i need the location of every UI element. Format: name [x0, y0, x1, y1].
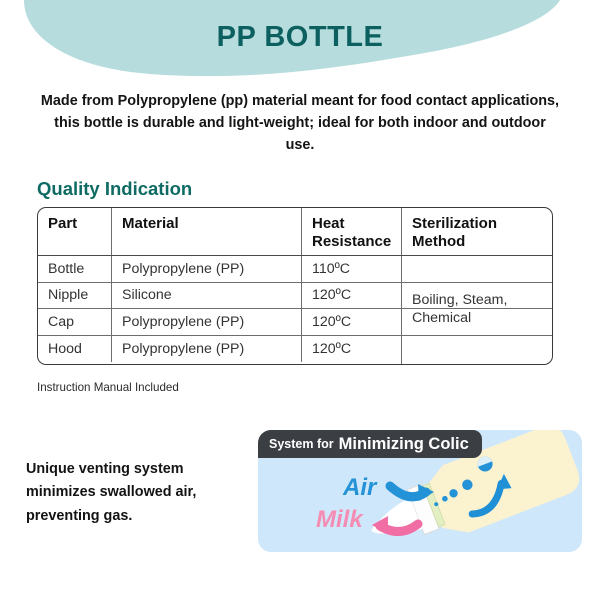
- intro-paragraph: Made from Polypropylene (pp) material me…: [40, 91, 560, 157]
- cell-sterilization-method-merged: Boiling, Steam, Chemical: [401, 256, 551, 364]
- quality-indication-heading: Quality Indication: [37, 178, 192, 200]
- cell-heat-resistance: 120ºC: [301, 309, 401, 335]
- column-header-ster-line2: Method: [412, 233, 465, 250]
- cell-material: Silicone: [111, 283, 301, 309]
- column-header-heat-line1: Heat: [312, 215, 345, 232]
- instruction-manual-note: Instruction Manual Included: [37, 381, 179, 394]
- minimizing-colic-banner: System for Minimizing Colic: [258, 430, 482, 458]
- column-header-sterilization-method: Sterilization Method: [401, 208, 551, 255]
- cell-material: Polypropylene (PP): [111, 336, 301, 363]
- column-header-ster-line1: Sterilization: [412, 215, 497, 232]
- cell-part: Nipple: [38, 283, 111, 309]
- table-header-row: Part Material Heat Resistance Sterilizat…: [38, 208, 552, 256]
- column-header-heat-line2: Resistance: [312, 233, 391, 250]
- cell-material: Polypropylene (PP): [111, 256, 301, 282]
- page-title: PP BOTTLE: [0, 21, 600, 54]
- column-header-material: Material: [111, 208, 301, 255]
- cell-material: Polypropylene (PP): [111, 309, 301, 335]
- banner-lead-text: System for: [269, 437, 334, 451]
- cell-part: Cap: [38, 309, 111, 335]
- cell-part: Bottle: [38, 256, 111, 282]
- cell-part: Hood: [38, 336, 111, 363]
- quality-indication-table: Part Material Heat Resistance Sterilizat…: [37, 207, 553, 365]
- cell-heat-resistance: 120ºC: [301, 283, 401, 309]
- milk-label: Milk: [316, 506, 363, 534]
- banner-main-text: Minimizing Colic: [339, 435, 469, 454]
- cell-heat-resistance: 110ºC: [301, 256, 401, 282]
- cell-heat-resistance: 120ºC: [301, 336, 401, 363]
- air-label: Air: [343, 474, 376, 502]
- minimizing-colic-illustration: System for Minimizing Colic Air Milk: [258, 430, 582, 552]
- column-header-part: Part: [38, 208, 111, 255]
- column-header-heat-resistance: Heat Resistance: [301, 208, 401, 255]
- venting-system-description: Unique venting system minimizes swallowe…: [26, 458, 241, 528]
